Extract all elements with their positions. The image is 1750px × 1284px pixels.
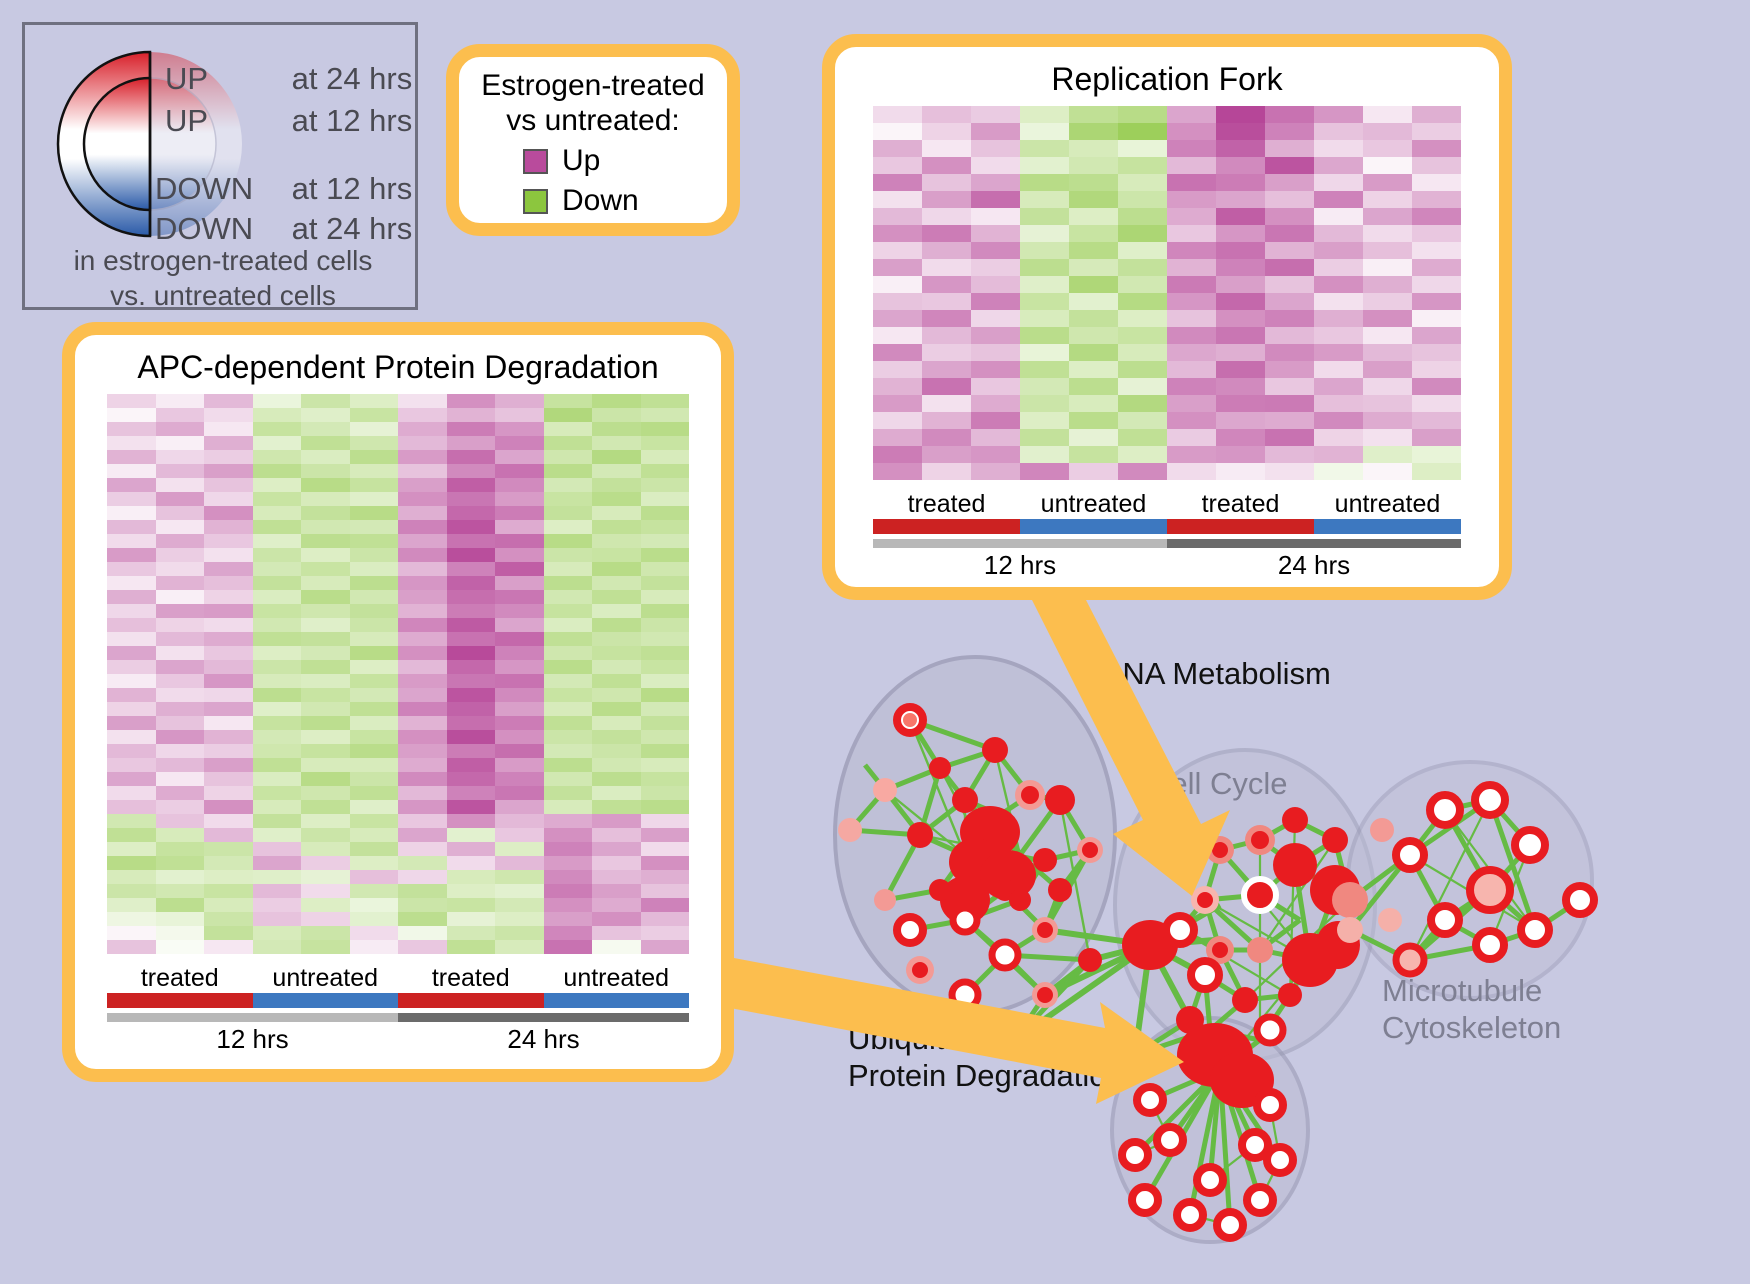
heatmap-cell [253, 408, 302, 422]
heatmap-cell [922, 327, 971, 344]
heatmap-cell [1314, 106, 1363, 123]
heatmap-cell [1020, 208, 1069, 225]
heatmap-cell [1265, 344, 1314, 361]
heatmap-cell [873, 344, 922, 361]
heatmap-cell [495, 772, 544, 786]
heatmap-cell [1265, 395, 1314, 412]
heatmap-cell [544, 688, 593, 702]
heatmap-cell [350, 394, 399, 408]
heatmap-cell [544, 590, 593, 604]
heatmap-cell [1069, 191, 1118, 208]
heatmap-cell [350, 842, 399, 856]
heatmap-cell [873, 310, 922, 327]
legend-item-down: Down [523, 184, 727, 218]
heatmap-cell [1020, 242, 1069, 259]
heatmap-cell [350, 730, 399, 744]
heatmap-cell [447, 814, 496, 828]
heatmap-cell [301, 562, 350, 576]
heatmap-cell [253, 436, 302, 450]
heatmap-cell [204, 450, 253, 464]
heatmap-cell [1412, 225, 1461, 242]
heatmap-cell [398, 674, 447, 688]
heatmap-cell [204, 674, 253, 688]
heatmap-cell [495, 688, 544, 702]
heatmap-cell [544, 758, 593, 772]
heatmap-cell [1020, 259, 1069, 276]
heatmap-cell [398, 534, 447, 548]
heatmap-cell [350, 422, 399, 436]
heatmap-cell [253, 576, 302, 590]
heatmap-cell [641, 422, 690, 436]
heatmap-cell [1020, 429, 1069, 446]
heatmap-cell [204, 926, 253, 940]
heatmap-cell [398, 926, 447, 940]
heatmap-cell [398, 786, 447, 800]
heatmap-cell [253, 786, 302, 800]
heatmap-cell [253, 842, 302, 856]
heatmap-cell [1314, 378, 1363, 395]
heatmap-cell [301, 604, 350, 618]
heatmap-cell [1265, 123, 1314, 140]
heatmap-cell [1363, 157, 1412, 174]
heatmap-cell [544, 800, 593, 814]
heatmap-cell [301, 660, 350, 674]
heatmap-cell [495, 660, 544, 674]
heatmap-cell [350, 674, 399, 688]
heatmap-cell [1363, 208, 1412, 225]
heatmap-cell [350, 702, 399, 716]
heatmap-cell [1020, 225, 1069, 242]
heatmap-cell [156, 632, 205, 646]
heatmap-cell [398, 422, 447, 436]
time-bar-12hrs [107, 1013, 398, 1022]
heatmap-cell [544, 660, 593, 674]
key-row-up-24: UP at 24 hrs [165, 61, 412, 97]
heatmap-cell [1412, 276, 1461, 293]
heatmap-cell [495, 492, 544, 506]
heatmap-cell [107, 842, 156, 856]
heatmap-cell [1363, 429, 1412, 446]
heatmap-cell [1069, 123, 1118, 140]
heatmap-cell [495, 898, 544, 912]
heatmap-cell [641, 940, 690, 954]
heatmap-cell [592, 758, 641, 772]
heatmap-cell [447, 884, 496, 898]
heatmap-cell [873, 259, 922, 276]
heatmap-cell [350, 800, 399, 814]
heatmap-cell [204, 464, 253, 478]
heatmap-cell [156, 814, 205, 828]
heatmap-cell [350, 870, 399, 884]
heatmap-cell [156, 772, 205, 786]
heatmap-cell [398, 618, 447, 632]
heatmap-cell [350, 786, 399, 800]
network-svg [790, 600, 1740, 1279]
cluster-label-dna-metabolism: DNA Metabolism [1100, 656, 1331, 692]
heatmap-cell [204, 562, 253, 576]
time-bar-24hrs [398, 1013, 689, 1022]
heatmap-cell [301, 436, 350, 450]
heatmap-cell [544, 912, 593, 926]
heatmap-cell [204, 800, 253, 814]
heatmap-cell [971, 225, 1020, 242]
heatmap-cell [253, 716, 302, 730]
heatmap-cell [592, 520, 641, 534]
heatmap-cell [544, 632, 593, 646]
heatmap-cell [922, 106, 971, 123]
heatmap-cell [1216, 225, 1265, 242]
heatmap-cell [253, 562, 302, 576]
heatmap-cell [1314, 361, 1363, 378]
heatmap-cell [447, 604, 496, 618]
heatmap-cell [544, 534, 593, 548]
heatmap-cell [592, 828, 641, 842]
heatmap-cell [156, 408, 205, 422]
heatmap-cell [350, 828, 399, 842]
heatmap-cell [447, 534, 496, 548]
heatmap-cell [873, 446, 922, 463]
heatmap-cell [592, 926, 641, 940]
heatmap-cell [592, 744, 641, 758]
heatmap-cell [1314, 327, 1363, 344]
heatmap-cell [253, 912, 302, 926]
heatmap-cell [204, 646, 253, 660]
heatmap-cell [641, 870, 690, 884]
heatmap-cell [107, 674, 156, 688]
heatmap-cell [204, 478, 253, 492]
heatmap-cell [592, 506, 641, 520]
condition-label-3: untreated [1314, 490, 1461, 519]
heatmap-cell [922, 225, 971, 242]
heatmap-cell [592, 562, 641, 576]
heatmap-cell [253, 758, 302, 772]
heatmap-cell [544, 772, 593, 786]
heatmap-cell [204, 436, 253, 450]
heatmap-cell [544, 786, 593, 800]
heatmap-cell [1118, 463, 1167, 480]
heatmap-cell [592, 646, 641, 660]
heatmap-cell [253, 674, 302, 688]
key-time-down-24: at 24 hrs [292, 211, 413, 246]
heatmap-cell [1314, 429, 1363, 446]
heatmap-cell [204, 828, 253, 842]
replication-fork-heatmap [873, 106, 1461, 480]
heatmap-cell [253, 940, 302, 954]
heatmap-cell [1167, 259, 1216, 276]
legend-label-up: Up [562, 144, 600, 178]
heatmap-cell [398, 744, 447, 758]
heatmap-cell [544, 716, 593, 730]
heatmap-cell [592, 912, 641, 926]
heatmap-cell [641, 548, 690, 562]
heatmap-cell [641, 394, 690, 408]
heatmap-cell [253, 856, 302, 870]
heatmap-cell [1020, 344, 1069, 361]
heatmap-cell [156, 562, 205, 576]
heatmap-cell [107, 688, 156, 702]
heatmap-cell [1314, 140, 1363, 157]
heatmap-cell [301, 394, 350, 408]
heatmap-cell [447, 520, 496, 534]
heatmap-cell [156, 856, 205, 870]
heatmap-cell [544, 646, 593, 660]
heatmap-cell [1118, 412, 1167, 429]
heatmap-cell [398, 632, 447, 646]
heatmap-cell [1167, 446, 1216, 463]
heatmap-cell [1069, 310, 1118, 327]
heatmap-cell [592, 870, 641, 884]
heatmap-cell [398, 492, 447, 506]
heatmap-cell [1118, 259, 1167, 276]
heatmap-cell [1167, 174, 1216, 191]
heatmap-cell [447, 772, 496, 786]
heatmap-cell [1265, 446, 1314, 463]
heatmap-cell [1363, 242, 1412, 259]
heatmap-cell [398, 464, 447, 478]
heatmap-cell [592, 618, 641, 632]
heatmap-cell [1265, 174, 1314, 191]
heatmap-cell [204, 758, 253, 772]
heatmap-cell [447, 688, 496, 702]
heatmap-cell [971, 361, 1020, 378]
heatmap-cell [447, 618, 496, 632]
heatmap-cell [1118, 106, 1167, 123]
heatmap-cell [495, 394, 544, 408]
heatmap-cell [107, 548, 156, 562]
heatmap-cell [350, 408, 399, 422]
heatmap-cell [253, 520, 302, 534]
heatmap-cell [253, 828, 302, 842]
heatmap-cell [641, 898, 690, 912]
key-label-up-24: UP [165, 61, 283, 97]
heatmap-cell [1216, 395, 1265, 412]
heatmap-cell [204, 520, 253, 534]
heatmap-cell [544, 856, 593, 870]
cluster-label-microtubule-cytoskeleton: Microtubule Cytoskeleton [1382, 972, 1561, 1046]
heatmap-cell [971, 395, 1020, 412]
heatmap-cell [495, 716, 544, 730]
heatmap-cell [1216, 123, 1265, 140]
heatmap-cell [1314, 310, 1363, 327]
heatmap-cell [971, 157, 1020, 174]
heatmap-cell [253, 744, 302, 758]
heatmap-cell [1363, 225, 1412, 242]
heatmap-cell [301, 926, 350, 940]
heatmap-cell [398, 576, 447, 590]
heatmap-cell [1412, 463, 1461, 480]
heatmap-cell [544, 408, 593, 422]
heatmap-cell [1020, 412, 1069, 429]
heatmap-cell [301, 800, 350, 814]
heatmap-cell [1314, 463, 1363, 480]
heatmap-cell [398, 604, 447, 618]
heatmap-cell [447, 940, 496, 954]
heatmap-cell [204, 940, 253, 954]
apc-condition-labels: treated untreated treated untreated [107, 964, 689, 993]
heatmap-cell [495, 618, 544, 632]
heatmap-cell [156, 744, 205, 758]
heatmap-cell [398, 506, 447, 520]
heatmap-cell [592, 422, 641, 436]
heatmap-cell [641, 744, 690, 758]
heatmap-cell [495, 870, 544, 884]
heatmap-cell [398, 408, 447, 422]
heatmap-cell [398, 856, 447, 870]
heatmap-cell [1363, 191, 1412, 208]
heatmap-cell [447, 408, 496, 422]
heatmap-cell [922, 123, 971, 140]
heatmap-cell [1069, 344, 1118, 361]
heatmap-cell [971, 174, 1020, 191]
heatmap-cell [1265, 242, 1314, 259]
heatmap-cell [156, 422, 205, 436]
heatmap-cell [1069, 276, 1118, 293]
heatmap-cell [447, 828, 496, 842]
heatmap-cell [204, 870, 253, 884]
heatmap-cell [204, 618, 253, 632]
time-bar-12hrs [873, 539, 1167, 548]
heatmap-cell [495, 814, 544, 828]
heatmap-cell [398, 842, 447, 856]
heatmap-cell [592, 940, 641, 954]
heatmap-cell [1216, 344, 1265, 361]
heatmap-cell [544, 450, 593, 464]
heatmap-cell [1167, 157, 1216, 174]
heatmap-cell [873, 378, 922, 395]
heatmap-cell [641, 842, 690, 856]
heatmap-cell [447, 744, 496, 758]
heatmap-cell [156, 870, 205, 884]
heatmap-cell [1314, 395, 1363, 412]
heatmap-cell [1020, 395, 1069, 412]
heatmap-cell [1314, 157, 1363, 174]
heatmap-cell [922, 259, 971, 276]
key-label-down-24: DOWN [155, 211, 283, 247]
heatmap-cell [350, 660, 399, 674]
heatmap-cell [873, 174, 922, 191]
key-row-up-12: UP at 12 hrs [165, 103, 412, 139]
heatmap-cell [1265, 106, 1314, 123]
legend-title-line1: Estrogen-treated [459, 69, 727, 104]
heatmap-cell [495, 786, 544, 800]
heatmap-cell [873, 106, 922, 123]
heatmap-cell [253, 702, 302, 716]
heatmap-cell [301, 618, 350, 632]
heatmap-cell [873, 242, 922, 259]
heatmap-cell [301, 814, 350, 828]
heatmap-cell [204, 884, 253, 898]
heatmap-cell [495, 464, 544, 478]
heatmap-cell [301, 534, 350, 548]
heatmap-cell [922, 140, 971, 157]
heatmap-cell [873, 140, 922, 157]
heatmap-cell [1363, 378, 1412, 395]
heatmap-cell [495, 856, 544, 870]
heatmap-cell [592, 534, 641, 548]
heatmap-cell [156, 534, 205, 548]
heatmap-cell [107, 520, 156, 534]
heatmap-cell [253, 646, 302, 660]
time-label-24hrs: 24 hrs [1167, 550, 1461, 581]
heatmap-cell [1265, 327, 1314, 344]
condition-bar-treated-24 [1167, 519, 1314, 534]
heatmap-cell [641, 814, 690, 828]
heatmap-cell [1118, 208, 1167, 225]
heatmap-cell [156, 590, 205, 604]
heatmap-cell [1412, 191, 1461, 208]
heatmap-cell [204, 716, 253, 730]
heatmap-cell [1216, 157, 1265, 174]
heatmap-cell [350, 744, 399, 758]
heatmap-cell [398, 646, 447, 660]
heatmap-cell [1412, 310, 1461, 327]
heatmap-cell [971, 276, 1020, 293]
heatmap-cell [544, 422, 593, 436]
heatmap-cell [1314, 191, 1363, 208]
heatmap-cell [544, 926, 593, 940]
heatmap-cell [350, 898, 399, 912]
key-time-up-12: at 12 hrs [292, 103, 413, 138]
heatmap-cell [398, 730, 447, 744]
heatmap-cell [156, 758, 205, 772]
heatmap-cell [1020, 327, 1069, 344]
heatmap-cell [350, 590, 399, 604]
heatmap-cell [398, 394, 447, 408]
heatmap-cell [447, 464, 496, 478]
heatmap-cell [107, 590, 156, 604]
heatmap-cell [922, 344, 971, 361]
heatmap-cell [592, 464, 641, 478]
heatmap-cell [204, 772, 253, 786]
heatmap-cell [1412, 429, 1461, 446]
heatmap-cell [1412, 327, 1461, 344]
heatmap-cell [1363, 344, 1412, 361]
heatmap-cell [1412, 242, 1461, 259]
heatmap-cell [107, 758, 156, 772]
heatmap-cell [1118, 310, 1167, 327]
heatmap-cell [156, 702, 205, 716]
condition-label-3: untreated [544, 964, 690, 993]
heatmap-cell [1020, 106, 1069, 123]
heatmap-cell [592, 478, 641, 492]
heatmap-cell [1118, 242, 1167, 259]
heatmap-cell [1314, 293, 1363, 310]
heatmap-cell [447, 870, 496, 884]
heatmap-cell [1118, 361, 1167, 378]
heatmap-cell [1265, 191, 1314, 208]
heatmap-cell [641, 506, 690, 520]
key-row-down-24: DOWN at 24 hrs [155, 211, 412, 247]
heatmap-cell [107, 786, 156, 800]
heatmap-cell [1216, 361, 1265, 378]
heatmap-cell [544, 884, 593, 898]
color-key-footer: in estrogen-treated cells vs. untreated … [25, 243, 421, 313]
heatmap-cell [544, 492, 593, 506]
heatmap-cell [495, 534, 544, 548]
heatmap-cell [301, 772, 350, 786]
heatmap-cell [301, 940, 350, 954]
heatmap-cell [1020, 293, 1069, 310]
heatmap-cell [156, 842, 205, 856]
legend-panel: Estrogen-treated vs untreated: Up Down [446, 44, 740, 236]
heatmap-cell [1314, 208, 1363, 225]
heatmap-cell [1314, 225, 1363, 242]
heatmap-cell [447, 856, 496, 870]
heatmap-cell [971, 293, 1020, 310]
heatmap-cell [1020, 140, 1069, 157]
heatmap-cell [1216, 259, 1265, 276]
heatmap-cell [592, 856, 641, 870]
